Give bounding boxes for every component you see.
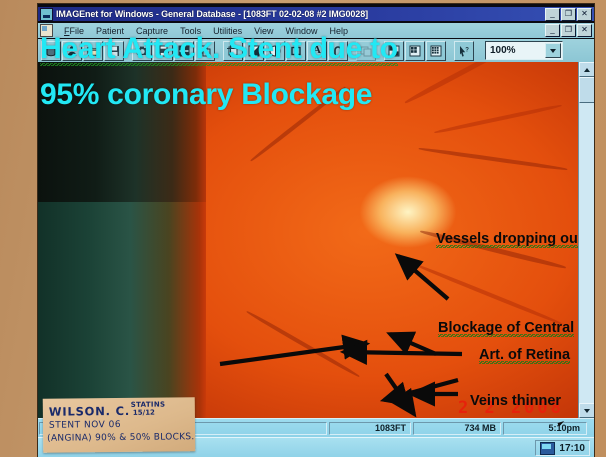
mdi-restore-button[interactable]: ❐	[561, 24, 576, 37]
note-dose: 15/12	[133, 409, 155, 417]
annotation-vessels-dropping-out: Vessels dropping out	[436, 230, 583, 248]
window-titlebar: IMAGEnet for Windows - General Database …	[38, 7, 594, 21]
note-medication: STATINS	[131, 401, 166, 409]
window-title: IMAGEnet for Windows - General Database …	[56, 9, 368, 19]
caption-line-2: 95% coronary Blockage	[40, 72, 560, 118]
annotation-art-of-retina: Art. of Retina	[479, 346, 570, 364]
handwritten-patient-note: WILSON. C. STATINS 15/12 STENT NOV 06 (A…	[43, 397, 196, 453]
note-line-2: STENT NOV 06	[49, 420, 121, 431]
note-patient-name: WILSON. C.	[49, 404, 130, 419]
status-pane-size: 734 MB	[413, 422, 501, 435]
scroll-thumb[interactable]	[579, 77, 594, 103]
status-pane-id: 1083FT	[329, 422, 411, 435]
taskbar-clock[interactable]: 17:10	[559, 443, 585, 454]
arrow-blockage-central	[344, 352, 462, 354]
window-controls[interactable]: _ ❐ ✕	[545, 8, 592, 21]
close-button[interactable]: ✕	[577, 8, 592, 21]
note-line-3: (ANGINA) 90% & 50% BLOCKS.	[47, 432, 195, 444]
minimize-button[interactable]: _	[545, 8, 560, 21]
triangle-down-icon[interactable]	[579, 403, 594, 418]
status-pane-time: 5:10pm	[503, 422, 587, 435]
caption-line-1: Heart Attack. Stent due to	[40, 26, 560, 72]
caption-overlay: Heart Attack. Stent due to 95% coronary …	[40, 26, 560, 117]
triangle-up-icon[interactable]	[579, 62, 594, 77]
system-tray[interactable]: 17:10	[535, 440, 590, 456]
arrow-vessels-dropping-out	[398, 256, 448, 299]
restore-button[interactable]: ❐	[561, 8, 576, 21]
network-icon[interactable]	[540, 442, 555, 455]
mdi-close-button[interactable]: ✕	[577, 24, 592, 37]
vertical-scrollbar[interactable]	[578, 62, 594, 418]
monitor-screen: IMAGEnet for Windows - General Database …	[38, 4, 594, 457]
imagenet-app-icon	[40, 8, 53, 21]
annotation-veins-thinner: Veins thinner	[470, 392, 561, 410]
annotation-blockage-of-central: Blockage of Central	[438, 319, 574, 337]
